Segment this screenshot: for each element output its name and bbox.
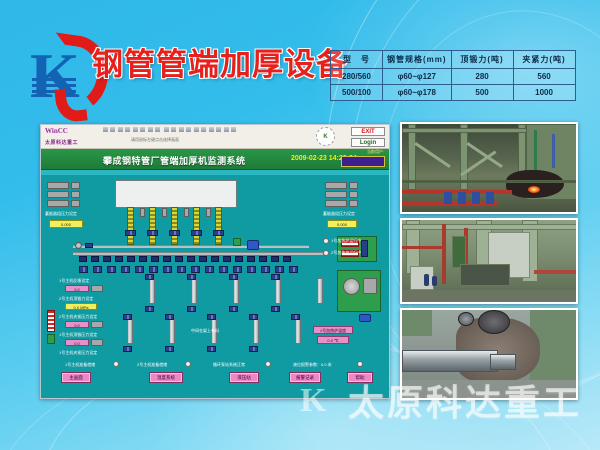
- dark-equipment: [460, 264, 510, 286]
- valve: [207, 346, 216, 352]
- hydraulic-cylinder: [127, 318, 133, 344]
- center-storage-label: 中间仓架上有料: [191, 328, 219, 334]
- valve-bank-item: [91, 256, 99, 262]
- cut-icon[interactable]: [133, 127, 138, 132]
- copy-icon[interactable]: [140, 127, 145, 132]
- machine-label: 1号主机反馈设定: [59, 278, 89, 284]
- readout-cell: [325, 200, 347, 207]
- login-button[interactable]: Login: [351, 138, 385, 147]
- logo-red-tail: [54, 87, 87, 124]
- valve: [271, 274, 280, 280]
- inlet-gauge: [75, 242, 82, 249]
- readout-unit: [349, 191, 358, 198]
- status-lamp: [265, 361, 271, 367]
- pump-motor: [247, 240, 259, 250]
- cell-model: 280/560: [331, 69, 383, 85]
- valve-bank-item: [271, 256, 279, 262]
- hydraulic-cylinder: [149, 278, 155, 304]
- main-tank: [115, 180, 237, 208]
- left-flow-readout: 0.000: [49, 220, 83, 228]
- page-title: 钢管管端加厚设备: [92, 48, 348, 82]
- valve: [145, 274, 154, 280]
- readout-cell: [47, 191, 69, 198]
- readout-cell: [47, 200, 69, 207]
- toolbar-icon-strip[interactable]: [103, 127, 303, 135]
- wincc-logo: WinCC 太原科达重工: [45, 127, 97, 146]
- hydraulic-cylinder: [275, 278, 281, 304]
- chuck-bolt: [458, 312, 474, 326]
- valve: [163, 266, 172, 273]
- user-icon[interactable]: [224, 127, 229, 132]
- machine-unit: [91, 339, 103, 346]
- status-lamp: [323, 238, 329, 244]
- status-lamp: [357, 361, 363, 367]
- readout-unit: [71, 182, 80, 189]
- valve: [147, 230, 158, 236]
- valve: [191, 266, 200, 273]
- valve-bank-item: [259, 256, 267, 262]
- photo-machine-hall: [400, 218, 578, 304]
- readout-unit: [349, 200, 358, 207]
- cell-upset-force: 500: [451, 85, 513, 101]
- rotating-chuck: [478, 310, 510, 334]
- valve: [135, 266, 144, 273]
- valve: [121, 266, 130, 273]
- accumulator-column: [127, 207, 134, 245]
- toolbar-caption: 请用鼠标左键点击选择画面: [131, 137, 179, 143]
- valve-bank-item: [139, 256, 147, 262]
- green-machine-part: [402, 310, 432, 336]
- machine-value: 0.0 MPa: [65, 303, 97, 310]
- zoom-icon[interactable]: [171, 127, 176, 132]
- report-icon[interactable]: [209, 127, 214, 132]
- machine-label: 2号主机夹紧压力设定: [59, 314, 97, 320]
- valve-bank-item: [235, 256, 243, 262]
- hydraulic-cylinder: [233, 278, 239, 304]
- settings-icon[interactable]: [216, 127, 221, 132]
- hot-pipe-glow: [528, 186, 540, 193]
- accumulator-column: [149, 207, 156, 245]
- save-icon[interactable]: [118, 127, 123, 132]
- process-pipe: [402, 246, 442, 249]
- machine-value: 0.0: [65, 321, 89, 328]
- valve: [169, 230, 180, 236]
- wincc-logo-text: WinCC: [45, 127, 68, 135]
- hydraulic-cylinder: [169, 318, 175, 344]
- valve-bank-item: [223, 256, 231, 262]
- th-clamp-force: 夹紧力(吨): [513, 51, 575, 69]
- watermark-logo: K: [300, 382, 344, 422]
- temperature-label: 1号加热炉温度: [313, 326, 353, 334]
- valve-bank-item: [283, 256, 291, 262]
- upset-steel-pipe: [402, 350, 498, 372]
- valve: [205, 266, 214, 273]
- valve-bank-item: [115, 256, 123, 262]
- nav-button-main[interactable]: 主画面: [61, 372, 91, 383]
- hmi-screenshot: WinCC 太原科达重工 请用鼠标左键点击选择画面 K EXIT Login 攀…: [40, 124, 390, 399]
- machine-label: 1号主机顶锻压力设定: [59, 332, 97, 338]
- furnace-dial: [343, 278, 360, 295]
- status-lamp-label: 1号主机准备就绪: [65, 362, 95, 368]
- left-accumulator-caption: 蓄能器组压力设定: [45, 211, 77, 217]
- sensor-cap: [140, 208, 145, 217]
- readout-cell: [47, 182, 69, 189]
- accumulator-column: [193, 207, 200, 245]
- hmi-mimic-diagram: 蓄能器组压力设定 0.000 蓄能器组压力设定 0.000: [41, 170, 389, 399]
- valve-bank-item: [199, 256, 207, 262]
- accumulator-column: [171, 207, 178, 245]
- valve: [249, 346, 258, 352]
- open-icon[interactable]: [110, 127, 115, 132]
- alarm-icon[interactable]: [194, 127, 199, 132]
- grid-icon[interactable]: [179, 127, 184, 132]
- level-indicator: [47, 310, 55, 332]
- sensor-cap: [184, 208, 189, 217]
- valve: [79, 266, 88, 273]
- undo-icon[interactable]: [155, 127, 160, 132]
- nav-button-temperature[interactable]: 温度系统: [149, 372, 183, 383]
- hydraulic-cylinder: [295, 318, 301, 344]
- status-lamp-label: 液位报警参数：0.0 米: [293, 362, 332, 368]
- help-icon[interactable]: [186, 127, 191, 132]
- sensor-cap: [162, 208, 167, 217]
- furnace-display: [363, 278, 377, 294]
- roller-drive: [472, 192, 480, 204]
- valve-bank-item: [175, 256, 183, 262]
- machine-unit: [91, 285, 103, 292]
- worker: [424, 274, 429, 286]
- cell-pipe-size: φ60~φ178: [383, 85, 452, 101]
- machine-label: 2号主机顶锻力设定: [59, 296, 93, 302]
- valve: [93, 266, 102, 273]
- table-row: 500/100 φ60~φ178 500 1000: [331, 85, 576, 101]
- valve: [219, 266, 228, 273]
- valve: [207, 314, 216, 320]
- valve: [289, 266, 298, 273]
- furnace-motor: [359, 314, 371, 322]
- th-pipe-size: 钢管规格(mm): [383, 51, 452, 69]
- valve: [271, 306, 280, 312]
- control-cabinet: [410, 266, 434, 290]
- valve-bank-item: [79, 256, 87, 262]
- right-label: 2号加热炉运行中: [331, 250, 361, 256]
- spec-table: 型 号 钢管规格(mm) 顶锻力(吨) 夹紧力(吨) 280/560 φ60~φ…: [330, 50, 576, 101]
- status-lamp-label: 2号主机准备就绪: [137, 362, 167, 368]
- readout-unit: [349, 182, 358, 189]
- readout-unit: [71, 200, 80, 207]
- valve-bank-item: [163, 256, 171, 262]
- machine-unit: [91, 321, 103, 328]
- valve: [261, 266, 270, 273]
- valve-bank-item: [103, 256, 111, 262]
- hmi-toolbar: WinCC 太原科达重工 请用鼠标左键点击选择画面 K EXIT Login: [41, 125, 389, 149]
- valve: [125, 230, 136, 236]
- hmi-system-title: 攀成钢特管厂管端加厚机监测系统: [103, 154, 246, 167]
- hmi-titlebar: 攀成钢特管厂管端加厚机监测系统 2009-02-23 14:29:24 当前用户: [41, 149, 389, 170]
- valve: [247, 266, 256, 273]
- valve: [191, 230, 202, 236]
- paste-icon[interactable]: [148, 127, 153, 132]
- return-pipe: [73, 252, 323, 255]
- valve: [275, 266, 284, 273]
- photo-production-line: [400, 122, 578, 214]
- upsetter-head: [506, 170, 564, 198]
- slide-canvas: K 钢管管端加厚设备 型 号 钢管规格(mm) 顶锻力(吨) 夹紧力(吨) 28…: [0, 0, 600, 450]
- machine-label: 1号主机夹紧压力设定: [59, 350, 97, 356]
- trend-icon[interactable]: [201, 127, 206, 132]
- process-pipe: [534, 130, 537, 170]
- red-conveyor-rail: [402, 190, 512, 194]
- valve: [123, 346, 132, 352]
- valve: [229, 306, 238, 312]
- readout-cell: [325, 191, 347, 198]
- nav-button-hydraulic[interactable]: 液压站: [229, 372, 259, 383]
- wincc-vendor-sub: 太原科达重工: [45, 139, 97, 146]
- roof-beam: [402, 224, 578, 230]
- process-pipe: [534, 270, 578, 274]
- cell-model: 500/100: [331, 85, 383, 101]
- status-lamp-label: 循环泵站系统正常: [213, 362, 245, 368]
- status-lamp: [323, 250, 329, 256]
- canvas-top-strip: [41, 170, 389, 175]
- header-pipe: [73, 245, 309, 248]
- worker: [432, 276, 437, 286]
- status-lamp: [113, 361, 119, 367]
- valve: [165, 346, 174, 352]
- redo-icon[interactable]: [164, 127, 169, 132]
- process-pipe: [552, 134, 555, 168]
- valve: [229, 274, 238, 280]
- valve-bank-item: [247, 256, 255, 262]
- status-lamp: [185, 361, 191, 367]
- clock-gauge-icon: K: [316, 127, 335, 146]
- new-icon[interactable]: [103, 127, 108, 132]
- furnace-valve: [361, 240, 368, 257]
- cell-clamp-force: 560: [513, 69, 575, 85]
- exit-button[interactable]: EXIT: [351, 127, 385, 136]
- right-flow-readout: 0.000: [327, 220, 357, 228]
- table-row: 280/560 φ60~φ127 280 560: [331, 69, 576, 85]
- roller-drive: [444, 192, 452, 204]
- valve: [145, 306, 154, 312]
- hydraulic-cylinder: [191, 278, 197, 304]
- machine-value: 0.0: [65, 339, 89, 346]
- temperature-value: 0.0 ℃: [317, 336, 349, 344]
- roller-drive: [458, 192, 466, 204]
- hydraulic-cylinder: [253, 318, 259, 344]
- valve: [187, 306, 196, 312]
- process-pipe: [442, 224, 446, 284]
- print-icon[interactable]: [125, 127, 130, 132]
- valve: [177, 266, 186, 273]
- valve-bank-item: [187, 256, 195, 262]
- th-upset-force: 顶锻力(吨): [451, 51, 513, 69]
- valve: [165, 314, 174, 320]
- valve: [149, 266, 158, 273]
- right-label: 1号加热炉运行中: [331, 238, 361, 244]
- valve-bank-item: [127, 256, 135, 262]
- valve: [233, 266, 242, 273]
- current-user-label: 当前用户: [367, 149, 383, 155]
- accumulator-column: [215, 207, 222, 245]
- valve: [123, 314, 132, 320]
- valve: [291, 314, 300, 320]
- lock-icon[interactable]: [231, 127, 236, 132]
- roller-drive: [486, 192, 494, 204]
- shop-floor: [402, 290, 578, 304]
- valve: [249, 314, 258, 320]
- valve: [107, 266, 116, 273]
- readout-cell: [325, 182, 347, 189]
- table-header-row: 型 号 钢管规格(mm) 顶锻力(吨) 夹紧力(吨): [331, 51, 576, 69]
- watermark-company: 太原科达重工: [348, 374, 582, 426]
- valve-bank-item: [151, 256, 159, 262]
- readout-unit: [71, 191, 80, 198]
- inlet-valve: [85, 243, 93, 248]
- valve: [213, 230, 224, 236]
- floor-rail: [402, 180, 578, 183]
- sensor-cap: [206, 208, 211, 217]
- green-indicator: [233, 238, 241, 246]
- cell-upset-force: 280: [451, 69, 513, 85]
- cell-pipe-size: φ60~φ127: [383, 69, 452, 85]
- right-accumulator-caption: 蓄能器组压力设定: [323, 211, 355, 217]
- pipe-upset-shoulder: [490, 354, 516, 370]
- hydraulic-cylinder: [317, 278, 323, 304]
- cell-clamp-force: 1000: [513, 85, 575, 101]
- machine-value: 0.0: [65, 285, 89, 292]
- th-model: 型 号: [331, 51, 383, 69]
- current-user-field[interactable]: [341, 156, 385, 167]
- valve: [187, 274, 196, 280]
- valve-bank-item: [211, 256, 219, 262]
- level-base: [47, 334, 55, 344]
